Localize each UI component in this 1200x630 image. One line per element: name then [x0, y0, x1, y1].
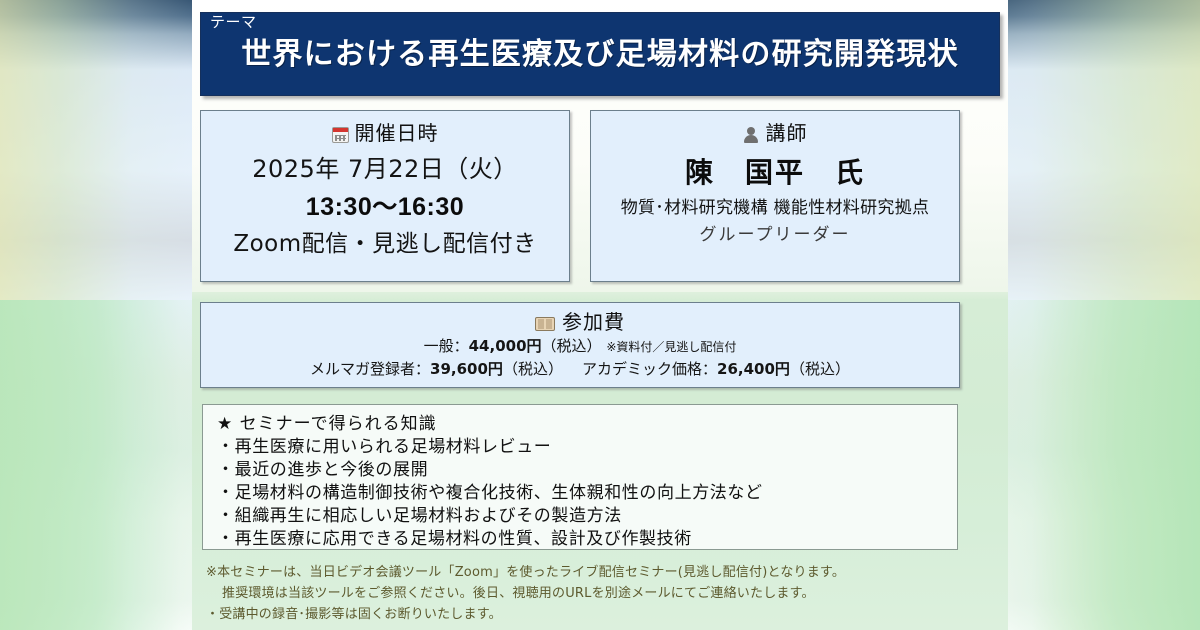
fee-line-general: 一般：44,000円（税込） ※資料付／見逃し配信付	[201, 335, 959, 358]
fee-academic-tax: （税込）	[790, 360, 850, 378]
date-card: 開催日時 2025年 7月22日（火） 13:30〜16:30 Zoom配信・見…	[200, 110, 570, 282]
note-line: ※本セミナーは、当日ビデオ会議ツール「Zoom」を使ったライブ配信セミナー(見逃…	[206, 562, 966, 583]
lecturer-name: 陳 国平 氏	[591, 154, 959, 192]
fee-general-label: 一般：	[424, 337, 469, 355]
fee-general-note: ※資料付／見逃し配信付	[606, 340, 736, 354]
date-card-heading-label: 開催日時	[355, 121, 439, 145]
fee-newsletter-label: メルマガ登録者：	[310, 360, 430, 378]
footer-notes: ※本セミナーは、当日ビデオ会議ツール「Zoom」を使ったライブ配信セミナー(見逃…	[206, 562, 966, 625]
calendar-icon	[332, 127, 349, 143]
lecturer-card-heading: 講師	[591, 120, 959, 146]
event-delivery-method: Zoom配信・見逃し配信付き	[201, 228, 569, 260]
money-icon	[535, 317, 555, 331]
fee-academic-amount: 26,400円	[717, 360, 790, 378]
lecturer-card: 講師 陳 国平 氏 物質･材料研究機構 機能性材料研究拠点 グループリーダー	[590, 110, 960, 282]
screenshot-canvas: テーマ 世界における再生医療及び足場材料の研究開発現状 開催日時 2025年 7…	[0, 0, 1200, 630]
fee-newsletter-amount: 39,600円	[430, 360, 503, 378]
note-line: ・受講中の録音･撮影等は固くお断りいたします。	[206, 604, 966, 625]
list-item: ・足場材料の構造制御技術や複合化技術、生体親和性の向上方法など	[217, 482, 957, 505]
page-title: 世界における再生医療及び足場材料の研究開発現状	[201, 35, 999, 75]
list-item: ・再生医療に用いられる足場材料レビュー	[217, 436, 957, 459]
fee-general-amount: 44,000円	[469, 337, 542, 355]
fee-card-heading: 参加費	[201, 309, 959, 335]
note-line: 推奨環境は当該ツールをご参照ください。後日、視聴用のURLを別途メールにてご連絡…	[206, 583, 966, 604]
date-card-heading: 開催日時	[201, 120, 569, 146]
fee-academic-label: アカデミック価格：	[582, 360, 717, 378]
fee-card: 参加費 一般：44,000円（税込） ※資料付／見逃し配信付 メルマガ登録者：3…	[200, 302, 960, 388]
fee-newsletter-tax: （税込）	[503, 360, 563, 378]
person-icon	[743, 127, 759, 143]
fee-general-tax: （税込）	[542, 337, 602, 355]
fee-line-discounted: メルマガ登録者：39,600円（税込） アカデミック価格：26,400円（税込）	[201, 358, 959, 380]
fee-card-heading-label: 参加費	[562, 310, 625, 334]
theme-title-bar: テーマ 世界における再生医療及び足場材料の研究開発現状	[200, 12, 1000, 96]
list-item: ・組織再生に相応しい足場材料およびその製造方法	[217, 505, 957, 528]
lecturer-card-heading-label: 講師	[766, 121, 808, 145]
theme-label: テーマ	[210, 14, 257, 31]
knowledge-box: ★ セミナーで得られる知識 ・再生医療に用いられる足場材料レビュー ・最近の進歩…	[202, 404, 958, 550]
list-item: ・最近の進歩と今後の展開	[217, 459, 957, 482]
list-item: ・再生医療に応用できる足場材料の性質、設計及び作製技術	[217, 528, 957, 551]
knowledge-title: ★ セミナーで得られる知識	[217, 413, 957, 436]
knowledge-title-label: セミナーで得られる知識	[240, 414, 437, 434]
seminar-slide: テーマ 世界における再生医療及び足場材料の研究開発現状 開催日時 2025年 7…	[192, 0, 1008, 630]
event-date: 2025年 7月22日（火）	[201, 152, 569, 186]
lecturer-role: グループリーダー	[591, 223, 959, 247]
event-time: 13:30〜16:30	[201, 190, 569, 224]
star-icon: ★	[217, 414, 233, 434]
lecturer-affiliation: 物質･材料研究機構 機能性材料研究拠点	[591, 196, 959, 220]
